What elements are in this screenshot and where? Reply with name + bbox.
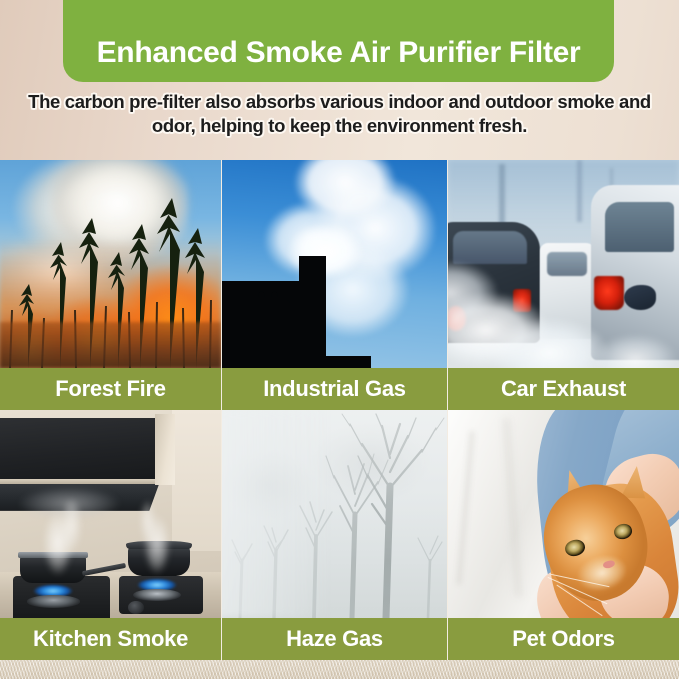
cell-label-kitchen-smoke: Kitchen Smoke [33, 626, 188, 652]
infographic-page: Enhanced Smoke Air Purifier Filter The c… [0, 0, 679, 679]
utility-pole-shape [577, 160, 582, 222]
cell-label-pet-odors: Pet Odors [512, 626, 614, 652]
factory-base-shape [222, 356, 371, 368]
grid-cell-forest-fire: Forest Fire [0, 160, 221, 410]
label-band-haze-gas: Haze Gas [222, 618, 447, 660]
grid-cell-kitchen-smoke: Kitchen Smoke [0, 410, 221, 660]
steam-shape [124, 497, 190, 584]
grid-cell-car-exhaust: Car Exhaust [448, 160, 679, 410]
cell-label-haze-gas: Haze Gas [286, 626, 383, 652]
car-exhaust-photo [448, 160, 679, 368]
pet-odors-photo [448, 410, 679, 618]
haze-gas-photo [222, 410, 447, 618]
grid-cell-pet-odors: Pet Odors [448, 410, 679, 660]
factory-pipe-shape [271, 291, 278, 303]
label-band-kitchen-smoke: Kitchen Smoke [0, 618, 221, 660]
forest-fire-photo [0, 160, 221, 368]
label-band-industrial-gas: Industrial Gas [222, 368, 447, 410]
factory-block-shape [225, 300, 290, 323]
car-exhaust-artwork [448, 160, 679, 368]
suv-window-shape [605, 202, 674, 252]
factory-silhouette [222, 281, 371, 368]
grid-cell-industrial-gas: Industrial Gas [222, 160, 447, 410]
cell-label-forest-fire: Forest Fire [55, 376, 165, 402]
smokestack-shape [299, 256, 326, 368]
industrial-gas-photo [222, 160, 447, 368]
industrial-gas-artwork [222, 160, 447, 368]
title-banner: Enhanced Smoke Air Purifier Filter [63, 0, 614, 82]
grid-cell-haze-gas: Haze Gas [222, 410, 447, 660]
factory-pipe-shape [258, 291, 265, 303]
header: Enhanced Smoke Air Purifier Filter The c… [0, 0, 679, 160]
stove-knob-shape [128, 601, 143, 613]
pet-odors-artwork [448, 410, 679, 618]
haze-gas-artwork [222, 410, 447, 618]
fabric-texture-strip [0, 660, 679, 679]
cell-label-industrial-gas: Industrial Gas [263, 376, 406, 402]
label-band-pet-odors: Pet Odors [448, 618, 679, 660]
kitchen-smoke-photo [0, 410, 221, 618]
forest-fire-artwork [0, 160, 221, 368]
page-title: Enhanced Smoke Air Purifier Filter [97, 36, 581, 70]
burning-ground-shape [0, 322, 221, 368]
burner-shape [27, 595, 80, 607]
kitchen-smoke-artwork [0, 410, 221, 618]
range-hood-side-shape [155, 414, 175, 485]
fog-overlay-shape [222, 410, 330, 618]
cell-label-car-exhaust: Car Exhaust [501, 376, 626, 402]
label-band-forest-fire: Forest Fire [0, 368, 221, 410]
label-band-car-exhaust: Car Exhaust [448, 368, 679, 410]
pollution-source-grid: Forest Fire [0, 160, 679, 660]
steam-shape [22, 493, 97, 589]
subtitle-text: The carbon pre-filter also absorbs vario… [0, 90, 679, 138]
range-hood-shape [0, 418, 164, 480]
exhaust-fog-shape [582, 322, 679, 368]
